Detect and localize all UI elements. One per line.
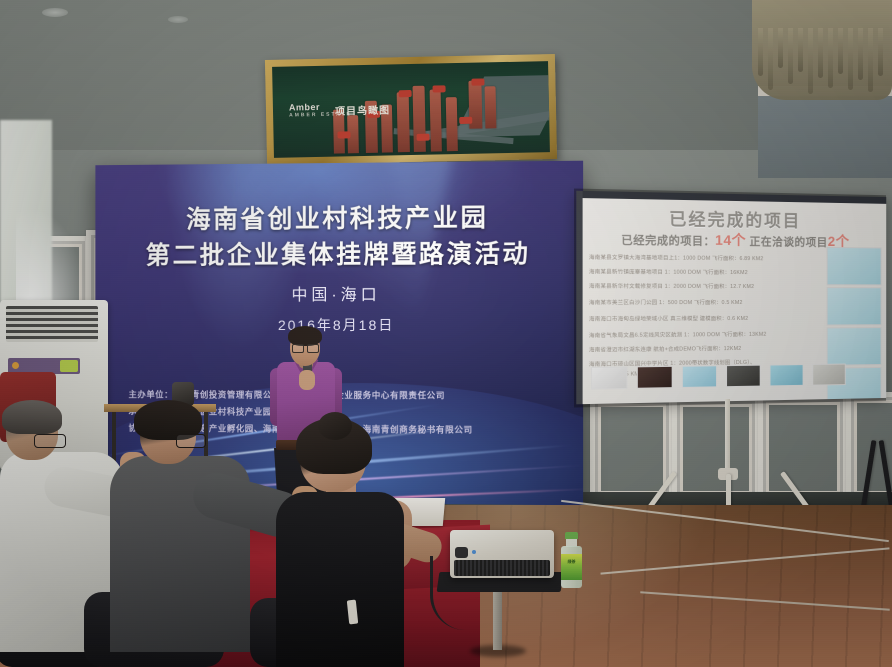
glasses-icon <box>176 434 206 448</box>
slide-thumbnail <box>726 365 761 388</box>
slide-list-item: 海南海口市海甸岛绿地荣域小区 真三维模型 建模面积：0.6 KM2 <box>589 314 748 323</box>
slide-subtitle-prefix: 已经完成的项目： <box>621 235 715 248</box>
banner-title-line2: 第二批企业集体挂牌暨路演活动 <box>95 234 583 272</box>
photo-scene: Amber AMBER ESTATE 项目鸟瞰图 海南省创业村科技产业园 第二批… <box>0 0 892 667</box>
glasses-icon <box>292 344 318 351</box>
attendee-3-body <box>276 492 404 667</box>
curtain-valance <box>752 0 892 100</box>
projector-vent <box>454 560 550 576</box>
framed-picture: Amber AMBER ESTATE 项目鸟瞰图 <box>265 54 557 165</box>
slide-thumbnail <box>827 327 882 366</box>
wall-panel <box>758 394 848 502</box>
slide-thumbnail <box>770 364 804 386</box>
ac-energy-badge <box>60 360 78 372</box>
glasses-icon <box>34 434 66 448</box>
slide-thumbnail <box>812 364 845 386</box>
projector <box>450 530 554 578</box>
tripod-pole <box>725 399 730 473</box>
banner-date: 2016年8月18日 <box>95 315 583 335</box>
ceiling-light-icon <box>168 16 188 23</box>
slide-subtitle-middle: 正在洽谈的项目 <box>746 236 828 249</box>
baseboard <box>580 492 892 506</box>
slide-list-item: 海南某县新竹镇庞寨基地项目 1：1000 DOM 飞行面积：16KM2 <box>589 267 748 276</box>
slide-thumbnail <box>827 247 882 285</box>
slide-list-item: 海南省气象局文昌6.5定线风灾区航测 1：1000 DOM 飞行面积：13KM2 <box>589 330 767 339</box>
banner-title-line1: 海南省创业村科技产业园 <box>95 197 583 236</box>
slide-list-item: 海南某市美兰区白沙门公园 1：500 DOM 飞行面积：0.5 KM2 <box>589 298 743 306</box>
projector-power-led <box>472 550 476 554</box>
slide-list-item: 海南某县新华村文载修复项目 1：2000 DOM 飞行面积：12.7 KM2 <box>589 282 754 290</box>
painting-caption: 项目鸟瞰图 <box>335 101 390 117</box>
wall-panel <box>672 396 760 502</box>
slide-list-item: 海南某县文罗镇大海湾基地项目上1：1000 DOM 飞行面积：6.89 KM2 <box>589 253 763 262</box>
green-tea-bottle: 绿茶 <box>561 532 582 588</box>
projection-screen: 已经完成的项目 已经完成的项目：14个 正在洽谈的项目2个 海南某县文罗镇大海湾… <box>576 191 886 405</box>
window-right <box>758 92 892 178</box>
painting-logo-main: Amber <box>289 102 320 113</box>
slide-thumbnail <box>637 366 673 389</box>
banner-location: 中国·海口 <box>95 280 583 305</box>
slide-thumbnail <box>827 287 882 325</box>
slide-thumbnail <box>682 365 717 388</box>
ac-power-indicator <box>12 362 19 369</box>
ac-vent-grill <box>6 306 98 342</box>
slide-thumbnail <box>591 366 628 389</box>
projector-stand <box>493 588 502 650</box>
speaker-hair <box>288 326 322 346</box>
attendee-3-hair-bun <box>318 412 352 440</box>
attendee-1-hair <box>2 400 62 434</box>
ceiling-light-icon <box>42 8 68 17</box>
speaker-hand <box>299 370 315 390</box>
bottle-cap <box>565 532 578 539</box>
completed-count: 14个 <box>715 232 746 248</box>
bottle-label-text: 绿茶 <box>563 559 580 565</box>
slide-list-item: 海南省澄迈市红湖东连康 航拍+合成DEMO飞行面积：12KM2 <box>589 344 741 354</box>
bottle-label <box>561 554 582 580</box>
painting-artwork: Amber AMBER ESTATE 项目鸟瞰图 <box>272 61 550 158</box>
